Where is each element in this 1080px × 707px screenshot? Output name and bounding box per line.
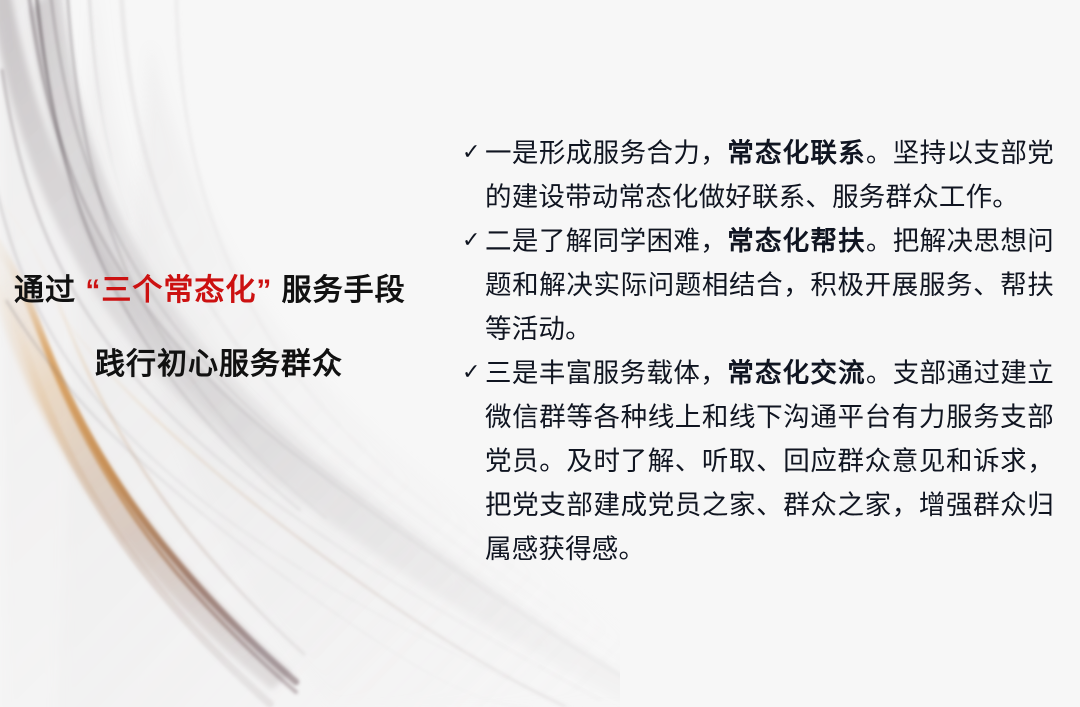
list-item-text: 二是了解同学困难，常态化帮扶。把解决思想问题和解决实际问题相结合，积极开展服务、…: [485, 226, 1054, 344]
check-icon: ✓: [462, 219, 481, 263]
body-bullet-list: ✓ 一是形成服务合力，常态化联系。坚持以支部党的建设带动常态化做好联系、服务群众…: [462, 131, 1054, 571]
list-item-emphasis: 常态化交流: [727, 358, 866, 388]
check-icon: ✓: [462, 351, 481, 395]
list-item-lead: 二是了解同学困难，: [485, 226, 727, 256]
list-item-emphasis: 常态化帮扶: [727, 226, 866, 256]
list-item-emphasis: 常态化联系: [727, 138, 866, 168]
title-line-2: 践行初心服务群众: [0, 342, 452, 388]
list-item: ✓ 三是丰富服务载体，常态化交流。支部通过建立微信群等各种线上和线下沟通平台有力…: [462, 351, 1054, 571]
check-icon: ✓: [462, 131, 481, 175]
title-line1-suffix: 服务手段: [272, 274, 405, 307]
list-item-lead: 一是形成服务合力，: [485, 138, 727, 168]
title-line1-prefix: 通过: [14, 274, 85, 307]
list-item-rest: 。支部通过建立微信群等各种线上和线下沟通平台有力服务支部党员。及时了解、听取、回…: [485, 358, 1054, 564]
list-item: ✓ 一是形成服务合力，常态化联系。坚持以支部党的建设带动常态化做好联系、服务群众…: [462, 131, 1054, 219]
list-item: ✓ 二是了解同学困难，常态化帮扶。把解决思想问题和解决实际问题相结合，积极开展服…: [462, 219, 1054, 351]
title-line1-accent: “三个常态化”: [85, 274, 272, 307]
title-block: 通过 “三个常态化” 服务手段 践行初心服务群众: [0, 268, 452, 388]
list-item-text: 一是形成服务合力，常态化联系。坚持以支部党的建设带动常态化做好联系、服务群众工作…: [485, 138, 1054, 212]
slide-canvas: 通过 “三个常态化” 服务手段 践行初心服务群众 ✓ 一是形成服务合力，常态化联…: [0, 0, 1080, 707]
title-line-1: 通过 “三个常态化” 服务手段: [0, 268, 452, 314]
list-item-text: 三是丰富服务载体，常态化交流。支部通过建立微信群等各种线上和线下沟通平台有力服务…: [485, 358, 1054, 564]
list-item-lead: 三是丰富服务载体，: [485, 358, 727, 388]
